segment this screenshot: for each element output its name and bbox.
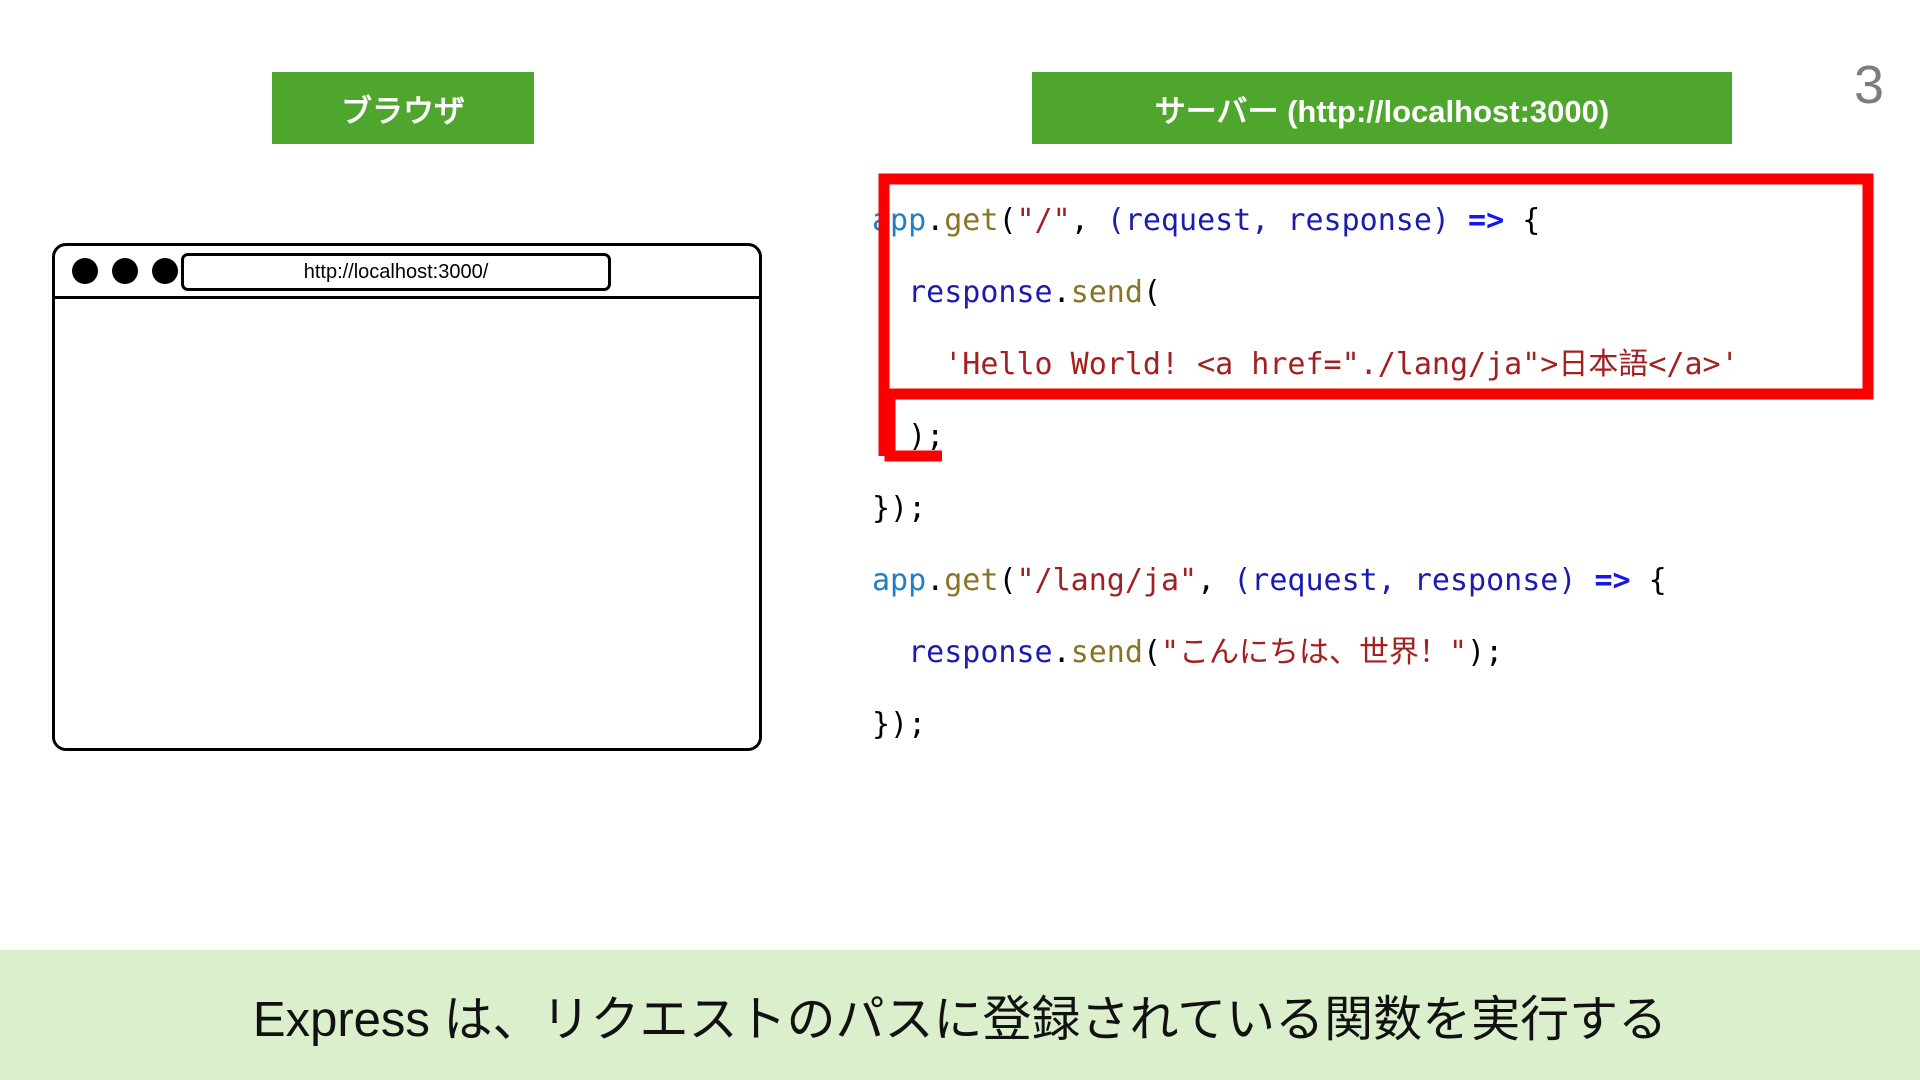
code-token-punct: , bbox=[1197, 563, 1233, 598]
code-token-string: 'Hello World! <a href="./lang/ja">日本語</a… bbox=[944, 347, 1738, 382]
code-token-punct: }); bbox=[872, 707, 926, 742]
code-token-punct: ( bbox=[1143, 275, 1161, 310]
code-token-punct: . bbox=[1053, 635, 1071, 670]
code-token-string: "/lang/ja" bbox=[1017, 563, 1198, 598]
code-token-object: app bbox=[872, 563, 926, 598]
code-token-param: response bbox=[908, 635, 1053, 670]
code-token-param: (request, response) bbox=[1107, 203, 1450, 238]
code-token-punct: , bbox=[1071, 203, 1107, 238]
code-line: ); bbox=[872, 401, 1739, 473]
code-line: response.send("こんにちは、世界！"); bbox=[872, 617, 1739, 689]
code-token-punct bbox=[1450, 203, 1468, 238]
code-line: app.get("/", (request, response) => { bbox=[872, 185, 1739, 257]
code-token-arrow: => bbox=[1594, 563, 1630, 598]
browser-viewport bbox=[55, 299, 759, 751]
code-line: response.send( bbox=[872, 257, 1739, 329]
code-token-string: "/" bbox=[1017, 203, 1071, 238]
browser-address-bar[interactable]: http://localhost:3000/ bbox=[181, 253, 611, 291]
browser-chrome: http://localhost:3000/ bbox=[55, 246, 759, 299]
browser-window-mockup: http://localhost:3000/ bbox=[52, 243, 762, 751]
code-token-punct: ( bbox=[998, 203, 1016, 238]
code-token-function: get bbox=[944, 203, 998, 238]
code-token-punct: ( bbox=[1143, 635, 1161, 670]
code-token-punct: ); bbox=[1467, 635, 1503, 670]
code-line: }); bbox=[872, 473, 1739, 545]
code-token-arrow: => bbox=[1468, 203, 1504, 238]
label-browser-text: ブラウザ bbox=[341, 86, 465, 131]
traffic-light-maximize-icon bbox=[152, 258, 178, 284]
code-line: 'Hello World! <a href="./lang/ja">日本語</a… bbox=[872, 329, 1739, 401]
code-indent bbox=[872, 419, 908, 454]
code-token-punct: ( bbox=[998, 563, 1016, 598]
caption-text: Express は、リクエストのパスに登録されている関数を実行する bbox=[253, 980, 1667, 1051]
code-token-punct: . bbox=[926, 203, 944, 238]
code-token-param: response bbox=[908, 275, 1053, 310]
code-token-param: (request, response) bbox=[1233, 563, 1576, 598]
browser-url-text: http://localhost:3000/ bbox=[304, 261, 489, 284]
browser-traffic-lights bbox=[72, 258, 178, 284]
code-indent bbox=[872, 275, 908, 310]
label-server: サーバー (http://localhost:3000) bbox=[1032, 72, 1732, 144]
traffic-light-close-icon bbox=[72, 258, 98, 284]
code-token-punct: { bbox=[1631, 563, 1667, 598]
code-token-punct: . bbox=[926, 563, 944, 598]
code-token-function: send bbox=[1071, 275, 1143, 310]
label-server-text: サーバー (http://localhost:3000) bbox=[1155, 86, 1609, 131]
code-token-punct: { bbox=[1504, 203, 1540, 238]
server-code-block: app.get("/", (request, response) => { re… bbox=[872, 185, 1739, 761]
code-token-string: "こんにちは、世界！" bbox=[1161, 635, 1467, 670]
code-token-punct: }); bbox=[872, 491, 926, 526]
traffic-light-minimize-icon bbox=[112, 258, 138, 284]
caption-bar: Express は、リクエストのパスに登録されている関数を実行する bbox=[0, 950, 1920, 1080]
code-token-function: send bbox=[1071, 635, 1143, 670]
code-token-punct: ); bbox=[908, 419, 944, 454]
code-token-punct bbox=[1576, 563, 1594, 598]
page-number: 3 bbox=[1854, 54, 1884, 116]
code-line: app.get("/lang/ja", (request, response) … bbox=[872, 545, 1739, 617]
code-indent bbox=[872, 347, 944, 382]
code-token-object: app bbox=[872, 203, 926, 238]
slide-root: 3 ブラウザ サーバー (http://localhost:3000) http… bbox=[0, 0, 1920, 1080]
label-browser: ブラウザ bbox=[272, 72, 534, 144]
code-line: }); bbox=[872, 689, 1739, 761]
code-token-punct: . bbox=[1053, 275, 1071, 310]
code-token-function: get bbox=[944, 563, 998, 598]
code-indent bbox=[872, 635, 908, 670]
